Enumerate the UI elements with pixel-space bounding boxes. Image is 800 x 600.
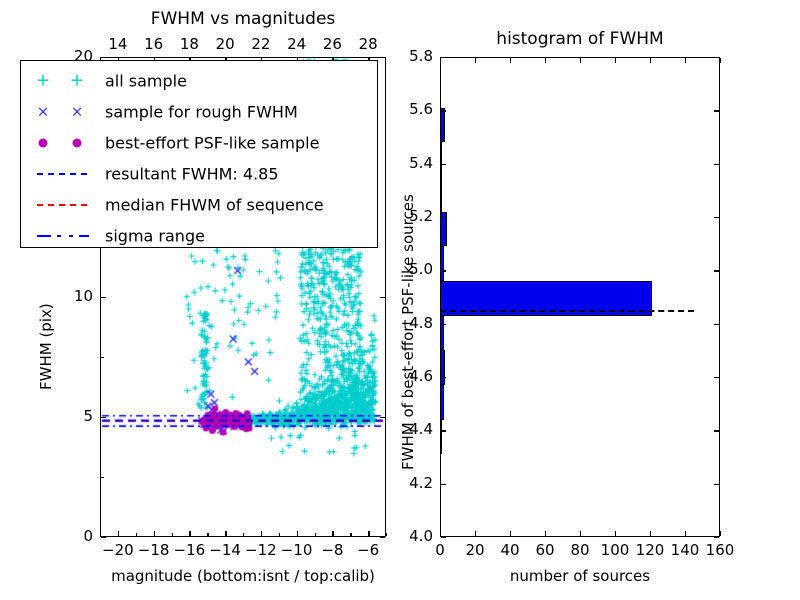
tick-label: 0 xyxy=(435,543,445,558)
tick-label: −18 xyxy=(138,543,170,558)
tick-mark xyxy=(615,531,616,536)
tick-mark xyxy=(101,537,106,538)
tick-mark xyxy=(475,531,476,536)
tick-mark xyxy=(714,377,719,378)
tick-label: 60 xyxy=(535,543,554,558)
dashed-line-swatch xyxy=(37,204,87,206)
tick-mark xyxy=(714,430,719,431)
tick-mark xyxy=(101,417,106,418)
tick-label: 80 xyxy=(570,543,589,558)
legend-label: all sample xyxy=(105,72,187,89)
tick-mark xyxy=(545,58,546,63)
legend-label: median FHWM of sequence xyxy=(105,196,324,213)
tick-mark xyxy=(685,58,686,63)
tick-label: 5 xyxy=(83,409,93,424)
tick-label: −16 xyxy=(174,543,206,558)
legend-entry: median FHWM of sequence xyxy=(21,189,377,220)
plus-marker: + xyxy=(36,73,50,88)
tick-mark xyxy=(714,110,719,111)
minor-tick-mark xyxy=(315,533,316,536)
minor-tick-mark xyxy=(279,533,280,536)
tick-label: 18 xyxy=(180,37,199,52)
legend-box: ++all sample××sample for rough FWHMbest-… xyxy=(20,60,378,248)
minor-tick-mark xyxy=(136,533,137,536)
tick-label: −12 xyxy=(245,543,277,558)
cross-marker: × xyxy=(71,104,84,119)
tick-mark xyxy=(510,58,511,63)
tick-mark xyxy=(475,58,476,63)
tick-label: 0 xyxy=(83,529,93,544)
tick-mark xyxy=(225,531,226,536)
tick-label: 14 xyxy=(108,37,127,52)
minor-tick-mark xyxy=(100,533,101,536)
legend-label: resultant FWHM: 4.85 xyxy=(105,165,279,182)
tick-label: 26 xyxy=(323,37,342,52)
tick-mark xyxy=(261,531,262,536)
tick-mark xyxy=(380,297,385,298)
minor-tick-mark xyxy=(101,477,104,478)
legend-entry: ××sample for rough FWHM xyxy=(21,96,377,127)
tick-mark xyxy=(441,430,446,431)
minor-tick-mark xyxy=(207,533,208,536)
tick-mark xyxy=(615,58,616,63)
tick-label: 22 xyxy=(251,37,270,52)
tick-label: 10 xyxy=(74,289,93,304)
histogram-bar xyxy=(440,420,442,455)
tick-mark xyxy=(650,58,651,63)
histogram-bar xyxy=(440,350,445,385)
tick-mark xyxy=(118,531,119,536)
tick-label: 20 xyxy=(465,543,484,558)
tick-mark xyxy=(189,531,190,536)
tick-mark xyxy=(714,537,719,538)
scatter-ylabel: FWHM (pix) xyxy=(38,303,54,390)
tick-mark xyxy=(441,270,446,271)
tick-mark xyxy=(580,531,581,536)
tick-label: 4.2 xyxy=(409,476,433,491)
minor-tick-mark xyxy=(243,533,244,536)
histogram-title: histogram of FWHM xyxy=(496,30,663,48)
tick-mark xyxy=(580,58,581,63)
tick-label: 160 xyxy=(706,543,735,558)
tick-mark xyxy=(440,58,441,63)
scatter-plot-title: FWHM vs magnitudes xyxy=(151,10,336,28)
tick-mark xyxy=(380,417,385,418)
tick-mark xyxy=(714,270,719,271)
tick-label: −6 xyxy=(357,543,379,558)
minor-tick-mark xyxy=(350,533,351,536)
histogram-bar xyxy=(440,385,444,420)
tick-label: 4.6 xyxy=(409,369,433,384)
tick-label: 4.4 xyxy=(409,422,433,437)
legend-entry: best-effort PSF-like sample xyxy=(21,127,377,158)
tick-label: 4.0 xyxy=(409,529,433,544)
tick-label: 4.8 xyxy=(409,316,433,331)
tick-mark xyxy=(685,531,686,536)
tick-label: −20 xyxy=(102,543,134,558)
scatter-xlabel: magnitude (bottom:isnt / top:calib) xyxy=(111,568,375,584)
histogram-bar xyxy=(440,246,444,281)
dashdot-line-swatch xyxy=(79,235,89,237)
legend-label: sample for rough FWHM xyxy=(105,103,298,120)
tick-mark xyxy=(720,531,721,536)
tick-label: 120 xyxy=(636,543,665,558)
tick-mark xyxy=(714,164,719,165)
tick-label: 140 xyxy=(671,543,700,558)
tick-label: 16 xyxy=(144,37,163,52)
tick-mark xyxy=(154,531,155,536)
tick-label: 5.8 xyxy=(409,49,433,64)
tick-mark xyxy=(441,324,446,325)
tick-mark xyxy=(380,57,385,58)
dashdot-line-swatch xyxy=(57,235,61,237)
dashdot-line-swatch xyxy=(37,235,51,237)
tick-mark xyxy=(714,324,719,325)
tick-mark xyxy=(441,57,446,58)
dashdot-line-swatch xyxy=(69,235,73,237)
minor-tick-mark xyxy=(172,533,173,536)
tick-label: 5.0 xyxy=(409,262,433,277)
tick-label: 5.2 xyxy=(409,209,433,224)
figure-canvas: FWHM vs magnitudes magnitude (bottom:isn… xyxy=(0,0,800,600)
minor-tick-mark xyxy=(101,357,104,358)
tick-mark xyxy=(510,531,511,536)
tick-mark xyxy=(545,531,546,536)
tick-label: −14 xyxy=(209,543,241,558)
tick-label: 20 xyxy=(216,37,235,52)
tick-mark xyxy=(380,537,385,538)
tick-mark xyxy=(714,484,719,485)
plus-marker: + xyxy=(70,73,84,88)
tick-label: 5.6 xyxy=(409,102,433,117)
histogram-bar xyxy=(440,316,444,351)
histogram-bar xyxy=(440,177,442,212)
tick-mark xyxy=(441,164,446,165)
tick-label: 100 xyxy=(601,543,630,558)
tick-mark xyxy=(101,57,106,58)
tick-mark xyxy=(441,537,446,538)
cross-marker: × xyxy=(37,104,50,119)
tick-mark xyxy=(714,57,719,58)
tick-mark xyxy=(441,110,446,111)
tick-mark xyxy=(332,531,333,536)
tick-mark xyxy=(714,217,719,218)
tick-label: 28 xyxy=(359,37,378,52)
tick-mark xyxy=(650,531,651,536)
resultant-fwhm-line xyxy=(440,310,694,312)
circle-marker xyxy=(73,138,82,147)
legend-entry: resultant FWHM: 4.85 xyxy=(21,158,377,189)
tick-mark xyxy=(441,217,446,218)
minor-tick-mark xyxy=(386,533,387,536)
tick-mark xyxy=(441,484,446,485)
tick-label: −10 xyxy=(281,543,313,558)
tick-mark xyxy=(720,58,721,63)
tick-label: 24 xyxy=(287,37,306,52)
tick-mark xyxy=(368,531,369,536)
legend-label: best-effort PSF-like sample xyxy=(105,134,319,151)
tick-mark xyxy=(441,377,446,378)
legend-entry: sigma range xyxy=(21,220,377,251)
histogram-xlabel: number of sources xyxy=(510,568,650,584)
legend-label: sigma range xyxy=(105,227,205,244)
tick-label: 40 xyxy=(500,543,519,558)
tick-label: −8 xyxy=(321,543,343,558)
circle-marker xyxy=(39,138,48,147)
legend-entry: ++all sample xyxy=(21,65,377,96)
tick-mark xyxy=(101,297,106,298)
tick-mark xyxy=(440,531,441,536)
tick-mark xyxy=(297,531,298,536)
tick-label: 5.4 xyxy=(409,156,433,171)
dashed-line-swatch xyxy=(37,173,87,175)
histogram-bar xyxy=(440,108,445,143)
histogram-bar xyxy=(440,142,442,177)
